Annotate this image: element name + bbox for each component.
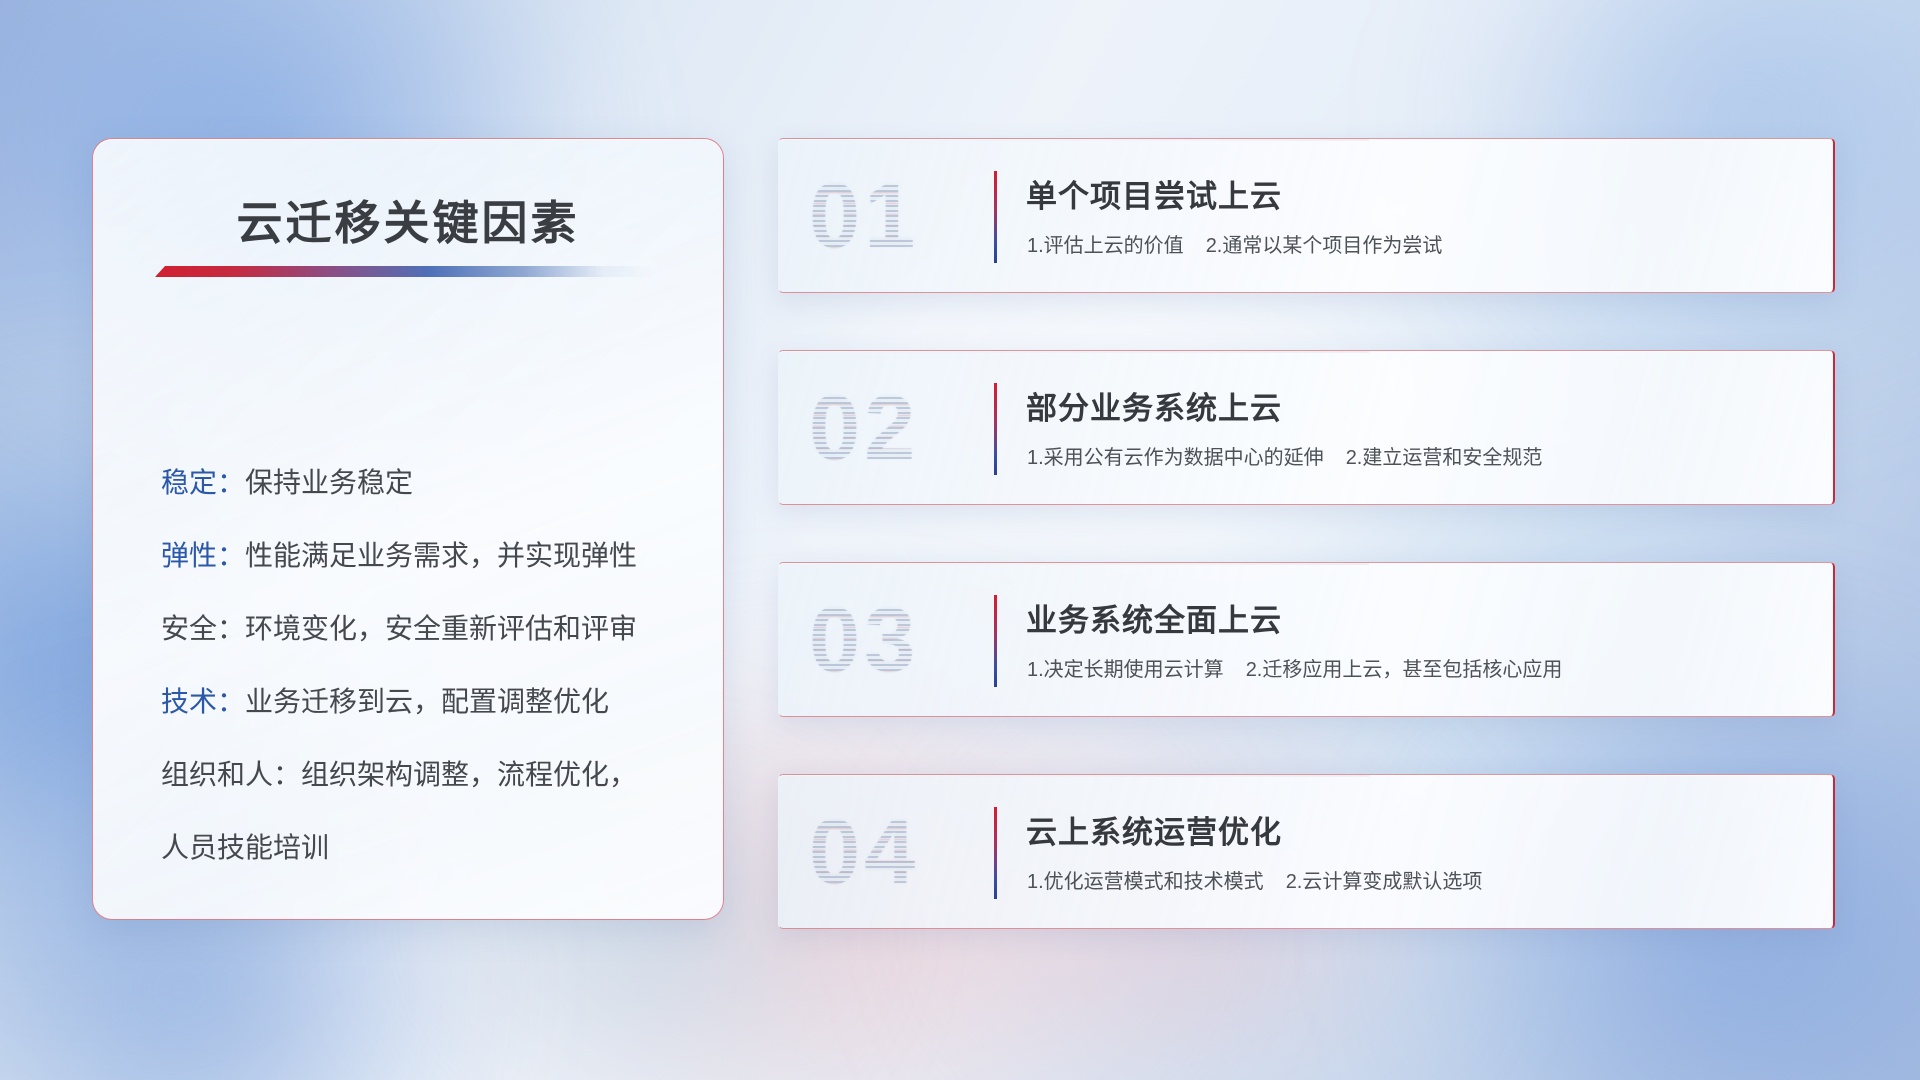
title-accent-bar (155, 266, 653, 277)
stage-point-1: 1.优化运营模式和技术模式 (1027, 871, 1264, 893)
factor-label: 稳定： (161, 467, 245, 498)
stage-title: 云上系统运营优化 (1026, 807, 1282, 852)
stage-point-2: 2.建立运营和安全规范 (1346, 447, 1543, 469)
stage-point-1: 1.决定长期使用云计算 (1027, 659, 1224, 681)
stage-points: 1.决定长期使用云计算2.迁移应用上云，甚至包括核心应用 (1027, 653, 1562, 682)
stage-title: 单个项目尝试上云 (1026, 171, 1282, 216)
stage-number: 02 (809, 382, 919, 474)
stage-point-1: 1.采用公有云作为数据中心的延伸 (1027, 447, 1324, 469)
factor-text: 业务迁移到云，配置调整优化 (245, 686, 609, 717)
factor-list: 稳定：保持业务稳定 弹性：性能满足业务需求，并实现弹性 安全：环境变化，安全重新… (93, 469, 723, 862)
stage-point-1: 1.评估上云的价值 (1027, 235, 1184, 257)
factor-item-stability: 稳定：保持业务稳定 (93, 469, 723, 497)
stage-title: 业务系统全面上云 (1026, 595, 1282, 640)
stage-card-01[interactable]: 01 01 01 单个项目尝试上云 1.评估上云的价值2.通常以某个项目作为尝试 (778, 138, 1835, 293)
stage-card-02[interactable]: 02 02 02 部分业务系统上云 1.采用公有云作为数据中心的延伸2.建立运营… (778, 350, 1835, 505)
factor-text: 人员技能培训 (161, 832, 329, 863)
factor-label: 组织和人： (161, 759, 301, 790)
stage-number: 04 (809, 806, 919, 898)
stage-accent-bar (994, 383, 997, 475)
stage-accent-bar (994, 807, 997, 899)
page-title: 云迁移关键因素 (93, 187, 723, 253)
stage-point-2: 2.云计算变成默认选项 (1286, 871, 1483, 893)
factor-label: 弹性： (161, 540, 245, 571)
stage-points: 1.采用公有云作为数据中心的延伸2.建立运营和安全规范 (1027, 441, 1542, 470)
factor-text: 环境变化，安全重新评估和评审 (245, 613, 637, 644)
stage-card-list: 01 01 01 单个项目尝试上云 1.评估上云的价值2.通常以某个项目作为尝试… (778, 138, 1835, 929)
factor-text: 组织架构调整，流程优化， (301, 759, 637, 790)
factor-item-elasticity: 弹性：性能满足业务需求，并实现弹性 (93, 542, 723, 570)
factor-text: 性能满足业务需求，并实现弹性 (245, 540, 637, 571)
stage-card-03[interactable]: 03 03 03 业务系统全面上云 1.决定长期使用云计算2.迁移应用上云，甚至… (778, 562, 1835, 717)
stage-point-2: 2.迁移应用上云，甚至包括核心应用 (1246, 659, 1563, 681)
stage-accent-bar (994, 595, 997, 687)
stage-points: 1.评估上云的价值2.通常以某个项目作为尝试 (1027, 229, 1442, 258)
factor-item-organization: 组织和人：组织架构调整，流程优化， (93, 761, 723, 789)
stage-card-04[interactable]: 04 04 04 云上系统运营优化 1.优化运营模式和技术模式2.云计算变成默认… (778, 774, 1835, 929)
factor-text: 保持业务稳定 (245, 467, 413, 498)
stage-number: 01 (809, 170, 919, 262)
factor-item-organization-cont: 人员技能培训 (93, 834, 723, 862)
factor-item-technology: 技术：业务迁移到云，配置调整优化 (93, 688, 723, 716)
factor-label: 安全： (161, 613, 245, 644)
stage-title: 部分业务系统上云 (1026, 383, 1282, 428)
stage-accent-bar (994, 171, 997, 263)
factor-label: 技术： (161, 686, 245, 717)
key-factors-panel: 云迁移关键因素 稳定：保持业务稳定 弹性：性能满足业务需求，并实现弹性 安全：环… (92, 138, 724, 920)
factor-item-security: 安全：环境变化，安全重新评估和评审 (93, 615, 723, 643)
stage-points: 1.优化运营模式和技术模式2.云计算变成默认选项 (1027, 865, 1482, 894)
stage-number: 03 (809, 594, 919, 686)
stage-point-2: 2.通常以某个项目作为尝试 (1206, 235, 1443, 257)
